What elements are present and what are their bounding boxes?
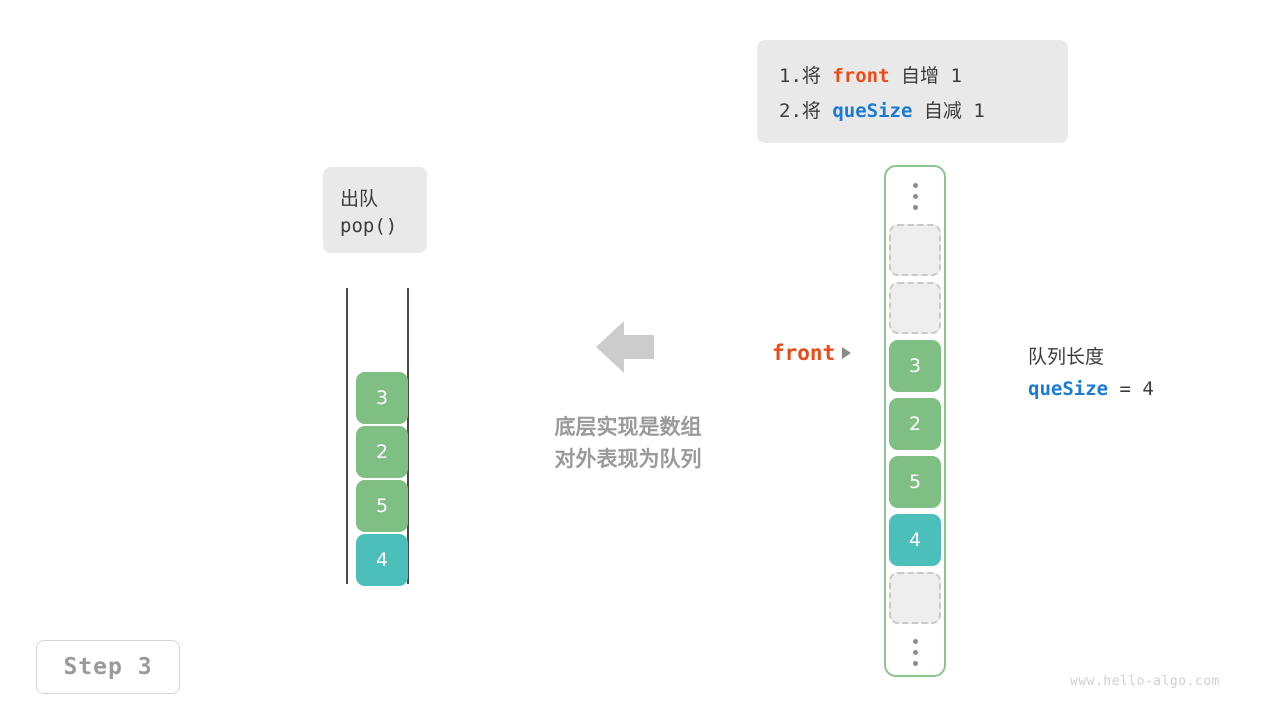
queue-value-cell: 4 [356, 534, 408, 586]
queue-rail-left [346, 288, 348, 584]
instruction-1-text-after: 自增 [890, 65, 951, 87]
instruction-2-text-before: 将 [802, 100, 832, 122]
front-pointer-label: front [772, 341, 835, 365]
instruction-2-amount: 1 [973, 100, 984, 122]
instruction-2-token: queSize [832, 100, 912, 122]
quesize-note-title: 队列长度 [1028, 341, 1154, 373]
step-badge: Step 3 [36, 640, 180, 694]
instruction-2-text-after: 自减 [912, 100, 973, 122]
queue-value-cell: 2 [356, 426, 408, 478]
instruction-1-index: 1. [779, 65, 802, 87]
explanation-note-line-1: 底层实现是数组 [528, 411, 728, 443]
quesize-value: 4 [1142, 378, 1153, 400]
quesize-note: 队列长度 queSize = 4 [1028, 341, 1154, 405]
instruction-line-1: 1.将 front 自增 1 [779, 61, 1046, 88]
pop-label-line-1: 出队 [340, 184, 378, 211]
array-value-cell: 4 [889, 514, 941, 566]
queue-abstract-view: 3254 [340, 285, 420, 590]
watermark: www.hello-algo.com [1070, 674, 1220, 689]
instruction-1-token: front [832, 65, 889, 87]
array-empty-slot [889, 224, 941, 276]
instruction-2-index: 2. [779, 100, 802, 122]
instruction-line-2: 2.将 queSize 自减 1 [779, 96, 1046, 123]
explanation-note-line-2: 对外表现为队列 [528, 443, 728, 475]
step-badge-label: Step 3 [63, 654, 152, 680]
quesize-equals: = [1108, 378, 1142, 400]
diagram-canvas: 1.将 front 自增 1 2.将 queSize 自减 1 出队 pop()… [0, 0, 1280, 720]
queue-value-cell: 3 [356, 372, 408, 424]
instruction-panel: 1.将 front 自增 1 2.将 queSize 自减 1 [757, 40, 1068, 143]
front-pointer-arrow-icon [842, 347, 851, 359]
transform-left-arrow-icon [596, 320, 654, 374]
array-empty-slot [889, 282, 941, 334]
pop-operation-label: 出队 pop() [323, 167, 427, 253]
pop-label-line-2: pop() [340, 215, 397, 237]
array-ellipsis-icon [913, 630, 918, 674]
array-value-cell: 2 [889, 398, 941, 450]
array-value-cell: 5 [889, 456, 941, 508]
front-pointer: front [772, 341, 851, 365]
queue-cell-list: 3254 [356, 372, 408, 586]
quesize-variable: queSize [1028, 378, 1108, 400]
queue-value-cell: 5 [356, 480, 408, 532]
quesize-note-expression: queSize = 4 [1028, 373, 1154, 405]
instruction-1-text-before: 将 [802, 65, 832, 87]
instruction-1-amount: 1 [950, 65, 961, 87]
array-ellipsis-icon [913, 174, 918, 218]
array-concrete-view: 3254 [884, 165, 946, 677]
explanation-note: 底层实现是数组 对外表现为队列 [528, 411, 728, 475]
array-empty-slot [889, 572, 941, 624]
array-cell-list: 3254 [889, 174, 941, 674]
array-value-cell: 3 [889, 340, 941, 392]
